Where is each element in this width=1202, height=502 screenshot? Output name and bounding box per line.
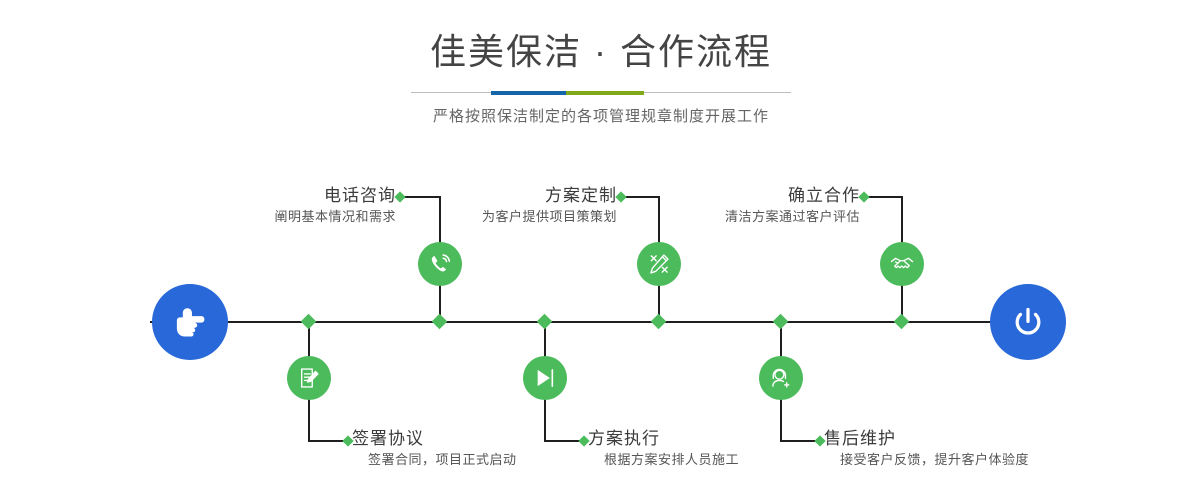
step-label-1: 电话咨询 阐明基本情况和需求: [160, 185, 396, 227]
page-title: 佳美保洁 · 合作流程: [0, 28, 1202, 76]
axis-marker-step-1: [432, 314, 448, 330]
step-title-6: 确立合作: [620, 185, 860, 207]
title-divider: [411, 88, 791, 98]
axis-marker-step-4: [537, 314, 553, 330]
step-node-4[interactable]: [523, 356, 567, 400]
step-label-2: 签署协议 签署合同，项目正式启动: [352, 428, 592, 470]
hand-pointing-icon: [169, 301, 211, 343]
timeline-axis: [150, 321, 1052, 323]
axis-marker-step-2: [301, 314, 317, 330]
step-desc-6: 清洁方案通过客户评估: [620, 207, 860, 227]
pencil-ruler-icon: [646, 251, 672, 277]
divider-segment-blue: [491, 91, 566, 95]
headset-support-icon: [768, 365, 794, 391]
power-icon: [1007, 301, 1049, 343]
step-desc-3: 为客户提供项目策策划: [380, 207, 617, 227]
step-title-5: 售后维护: [824, 428, 1074, 450]
document-sign-icon: [296, 365, 322, 391]
step-title-2: 签署协议: [352, 428, 592, 450]
timeline-start-endpoint: [152, 284, 228, 360]
axis-marker-step-3: [651, 314, 667, 330]
process-flow-infographic: 佳美保洁 · 合作流程 严格按照保洁制定的各项管理规章制度开展工作: [0, 0, 1202, 502]
phone-call-icon: [427, 251, 453, 277]
step-label-3: 方案定制 为客户提供项目策策划: [380, 185, 617, 227]
step-node-5[interactable]: [759, 356, 803, 400]
step-desc-1: 阐明基本情况和需求: [160, 207, 396, 227]
handshake-icon: [889, 251, 915, 277]
step-title-3: 方案定制: [380, 185, 617, 207]
header: 佳美保洁 · 合作流程 严格按照保洁制定的各项管理规章制度开展工作: [0, 28, 1202, 128]
step-desc-5: 接受客户反馈，提升客户体验度: [824, 450, 1074, 470]
play-execute-icon: [532, 365, 558, 391]
step-node-3[interactable]: [637, 242, 681, 286]
label-marker-step-6: [858, 191, 869, 202]
step-node-6[interactable]: [880, 242, 924, 286]
divider-segment-green: [566, 91, 644, 95]
axis-marker-step-6: [894, 314, 910, 330]
axis-marker-step-5: [773, 314, 789, 330]
step-label-5: 售后维护 接受客户反馈，提升客户体验度: [824, 428, 1074, 470]
step-desc-2: 签署合同，项目正式启动: [352, 450, 592, 470]
step-title-1: 电话咨询: [160, 185, 396, 207]
page-subtitle: 严格按照保洁制定的各项管理规章制度开展工作: [0, 106, 1202, 128]
timeline-end-endpoint: [990, 284, 1066, 360]
step-node-1[interactable]: [418, 242, 462, 286]
step-desc-4: 根据方案安排人员施工: [588, 450, 828, 470]
step-label-4: 方案执行 根据方案安排人员施工: [588, 428, 828, 470]
step-node-2[interactable]: [287, 356, 331, 400]
step-title-4: 方案执行: [588, 428, 828, 450]
step-label-6: 确立合作 清洁方案通过客户评估: [620, 185, 860, 227]
